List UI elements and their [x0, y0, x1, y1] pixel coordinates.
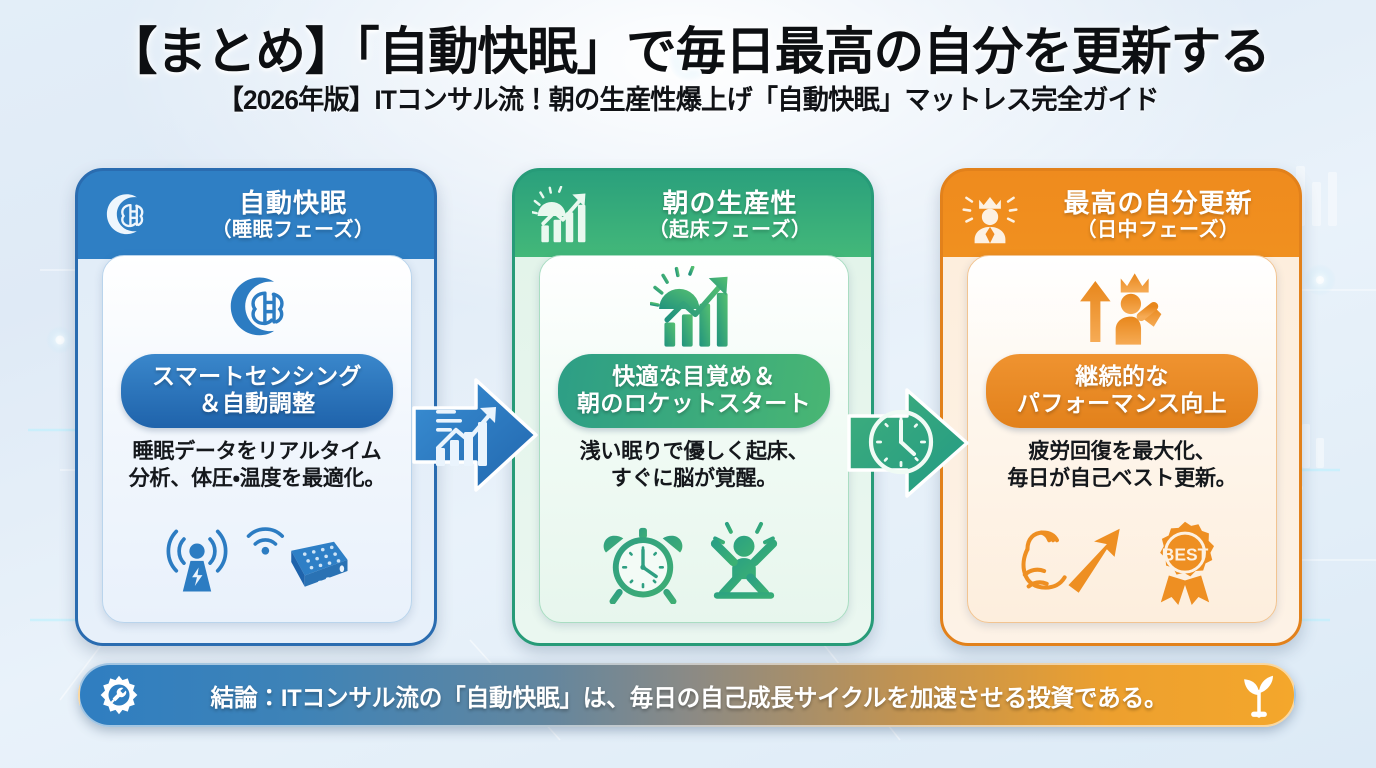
- best-badge-icon: BEST: [1142, 519, 1228, 605]
- page-subtitle: 【2026年版】ITコンサル流！朝の生産性爆上げ「自動快眠」マットレス完全ガイド: [218, 87, 1159, 114]
- flex-arm-arrow-icon: [1016, 521, 1126, 603]
- crowned-person-shine-icon: [959, 185, 1021, 247]
- card-description: 浅い眠りで優しく起床、 すぐに脳が覚醒。: [580, 439, 809, 493]
- card-panel: 継続的な パフォーマンス向上 疲労回復を最大化、 毎日が自己ベスト更新。: [967, 255, 1277, 623]
- card-header-text: 朝の生産性 （起床フェーズ）: [603, 190, 857, 241]
- desc-line-2: すぐに脳が覚醒。: [580, 466, 809, 493]
- pill-line-2: ＆自動調整: [127, 390, 387, 417]
- conclusion-banner[interactable]: 結論：ITコンサル流の「自動快眠」は、毎日の自己成長サイクルを加速させる投資であ…: [78, 663, 1296, 727]
- card-title: 自動快眠: [239, 190, 347, 217]
- moon-brain-icon: [215, 266, 299, 352]
- signal-tower-icon: [164, 526, 230, 598]
- smart-mattress-icon: [246, 526, 350, 598]
- card-pill: 継続的な パフォーマンス向上: [986, 354, 1258, 428]
- card-title: 最高の自分更新: [1063, 190, 1252, 217]
- card-title: 朝の生産性: [662, 190, 797, 217]
- card-sleep-phase[interactable]: 自動快眠 （睡眠フェーズ） スマートセンシング ＆自動調整: [75, 168, 437, 646]
- pill-line-1: スマートセンシング: [127, 363, 387, 390]
- desc-line-1: 睡眠データをリアルタイム: [129, 439, 386, 466]
- card-description: 疲労回復を最大化、 毎日が自己ベスト更新。: [1007, 439, 1236, 493]
- card-footer-icons: [164, 502, 350, 622]
- card-daytime-phase[interactable]: 最高の自分更新 （日中フェーズ） 継続的な パフォーマンス: [940, 168, 1302, 646]
- pill-line-2: 朝のロケットスタート: [564, 390, 824, 417]
- card-description: 睡眠データをリアルタイム 分析、体圧・温度を最適化。: [129, 439, 386, 493]
- alarm-clock-icon: [601, 520, 685, 604]
- desc-line-1: 疲労回復を最大化、: [1007, 439, 1236, 466]
- sunrise-growth-chart-icon: [531, 185, 593, 247]
- card-morning-phase[interactable]: 朝の生産性 （起床フェーズ）: [512, 168, 874, 646]
- phase-cards: 自動快眠 （睡眠フェーズ） スマートセンシング ＆自動調整: [0, 168, 1376, 648]
- arrow-1: [410, 370, 540, 505]
- card-subtitle: （日中フェーズ）: [1077, 219, 1240, 242]
- sprout-icon: [1238, 672, 1280, 718]
- card-panel: 快適な目覚め＆ 朝のロケットスタート 浅い眠りで優しく起床、 すぐに脳が覚醒。: [539, 255, 849, 623]
- pill-line-1: 継続的な: [992, 363, 1252, 390]
- card-footer-icons: [601, 502, 787, 622]
- desc-line-2: 分析、体圧・温度を最適化。: [129, 466, 386, 493]
- sunrise-growth-chart-icon: [650, 266, 738, 352]
- crowned-flex-person-arrow-icon: [1075, 266, 1169, 352]
- card-pill: スマートセンシング ＆自動調整: [121, 354, 393, 428]
- clock-icon: [871, 412, 931, 472]
- card-panel: スマートセンシング ＆自動調整 睡眠データをリアルタイム 分析、体圧・温度を最適…: [102, 255, 412, 623]
- pill-line-2: パフォーマンス向上: [992, 390, 1252, 417]
- header: 【まとめ】「自動快眠」で毎日最高の自分を更新する 【2026年版】ITコンサル流…: [0, 0, 1376, 150]
- moon-brain-icon: [94, 185, 156, 247]
- stretching-person-icon: [701, 520, 787, 604]
- desc-line-2: 毎日が自己ベスト更新。: [1007, 466, 1236, 493]
- arrow-2: [845, 380, 971, 511]
- card-footer-icons: BEST: [1016, 502, 1228, 622]
- pill-line-1: 快適な目覚め＆: [564, 363, 824, 390]
- gear-wrench-icon: [98, 674, 140, 716]
- card-pill: 快適な目覚め＆ 朝のロケットスタート: [558, 354, 830, 428]
- best-badge-label: BEST: [1162, 545, 1209, 565]
- card-subtitle: （睡眠フェーズ）: [212, 219, 375, 242]
- page-title: 【まとめ】「自動快眠」で毎日最高の自分を更新する: [107, 26, 1270, 78]
- card-header-text: 最高の自分更新 （日中フェーズ）: [1031, 190, 1285, 241]
- card-subtitle: （起床フェーズ）: [649, 219, 812, 242]
- card-header: 最高の自分更新 （日中フェーズ）: [943, 171, 1299, 261]
- conclusion-text: 結論：ITコンサル流の「自動快眠」は、毎日の自己成長サイクルを加速させる投資であ…: [160, 678, 1218, 713]
- desc-line-1: 浅い眠りで優しく起床、: [580, 439, 809, 466]
- card-header: 自動快眠 （睡眠フェーズ）: [78, 171, 434, 261]
- card-header: 朝の生産性 （起床フェーズ）: [515, 171, 871, 261]
- card-header-text: 自動快眠 （睡眠フェーズ）: [166, 190, 420, 241]
